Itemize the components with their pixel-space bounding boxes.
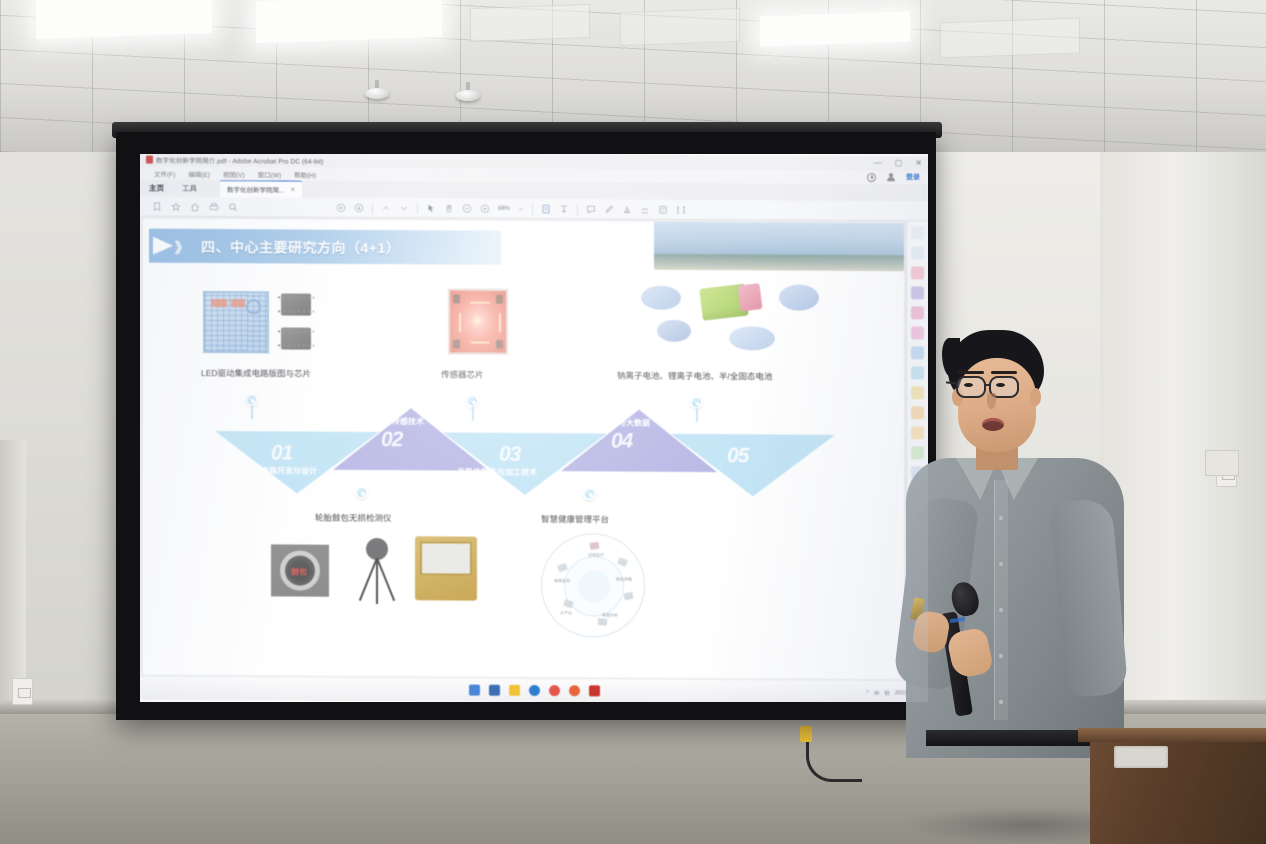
ceiling-light — [36, 0, 212, 39]
rotate-icon[interactable] — [559, 204, 569, 214]
tripod-scanner-image — [353, 538, 401, 604]
direction-label-01: 集成电子电路开发与设计 — [229, 465, 317, 477]
eyeglasses-lens-left — [956, 376, 986, 398]
toolbar-separator — [417, 203, 418, 214]
smoke-detector-icon — [456, 90, 480, 101]
direction-label-02: 光电检测与传感技术 — [352, 416, 424, 427]
tire-bulge-image: 鼓包 — [271, 544, 329, 596]
export-pdf-icon[interactable] — [911, 266, 924, 279]
menu-view[interactable]: 视图(V) — [223, 169, 245, 179]
form-icon[interactable] — [658, 205, 668, 215]
lock-icon[interactable] — [887, 173, 895, 182]
menu-edit[interactable]: 编辑(E) — [188, 168, 210, 178]
acrobat-icon[interactable] — [589, 685, 600, 696]
toolbar-separator — [532, 203, 533, 214]
sign-in-button[interactable]: 登录 — [906, 172, 920, 182]
share-icon[interactable] — [676, 205, 686, 215]
ceiling-panel — [940, 18, 1080, 59]
power-cable — [806, 738, 862, 782]
folder-icon[interactable] — [509, 685, 520, 696]
document-tab-label: 数字化创新学院简... — [227, 184, 284, 194]
smoke-detector-icon — [365, 88, 389, 99]
direction-number-03: 03 — [499, 443, 520, 467]
titlebar-right-actions[interactable]: 登录 — [867, 172, 920, 182]
projection-screen: 数字化创新学院简介.pdf - Adobe Acrobat Pro DC (64… — [116, 132, 936, 720]
start-icon[interactable] — [469, 685, 480, 696]
download-icon[interactable] — [354, 203, 364, 213]
edit-pdf-icon[interactable] — [911, 306, 924, 319]
shirt-button — [999, 700, 1003, 704]
pin-stem — [251, 405, 253, 419]
help-circle-icon[interactable] — [867, 173, 876, 182]
chrome-icon[interactable] — [549, 685, 560, 696]
marker-pin-02 — [355, 486, 368, 499]
acrobat-window[interactable]: 数字化创新学院简介.pdf - Adobe Acrobat Pro DC (64… — [140, 154, 928, 702]
menu-help[interactable]: 帮助(H) — [294, 169, 316, 179]
eye-right — [996, 383, 1005, 387]
caption-health-platform: 智慧健康管理平台 — [541, 513, 609, 525]
toolbar-separator — [372, 203, 373, 214]
menu-window[interactable]: 窗口(W) — [258, 169, 281, 179]
close-button[interactable]: ✕ — [915, 158, 922, 168]
search-icon[interactable] — [911, 246, 924, 259]
eyebrow-right — [991, 371, 1017, 374]
caption-battery: 钠离子电池、锂离子电池、半/全固态电池 — [617, 370, 772, 383]
zoom-level-value[interactable]: 68% — [498, 206, 510, 212]
marker-pin-04 — [583, 487, 596, 500]
direction-number-05: 05 — [727, 444, 748, 468]
explorer-icon[interactable] — [489, 685, 500, 696]
chip-circle-feature — [246, 299, 261, 314]
edge-icon[interactable] — [529, 685, 540, 696]
jeans — [926, 734, 1116, 844]
page-down-icon[interactable] — [399, 203, 409, 213]
close-icon[interactable]: ✕ — [290, 186, 295, 193]
eyeglasses-bridge — [986, 384, 991, 386]
battery-applications-image — [641, 282, 821, 357]
star-icon[interactable] — [171, 201, 181, 211]
sensor-chip-image: ✳ — [448, 288, 508, 354]
ic-package-image — [281, 293, 311, 315]
ic-package-image — [281, 327, 311, 349]
tab-tools[interactable]: 工具 — [173, 183, 206, 194]
window-title: 数字化创新学院简介.pdf - Adobe Acrobat Pro DC (64… — [140, 154, 323, 165]
direction-triangle-03 — [443, 432, 607, 495]
health-label-4: 云平台 — [560, 610, 572, 616]
nose — [987, 393, 996, 409]
caption-tire-detector: 轮胎鼓包无损检测仪 — [315, 512, 392, 524]
caption-led-chip: LED驱动集成电路版图与芯片 — [201, 367, 311, 380]
screen-surface: 数字化创新学院简介.pdf - Adobe Acrobat Pro DC (64… — [140, 154, 928, 702]
print-icon[interactable] — [209, 202, 219, 212]
ceiling-panel — [470, 4, 590, 42]
direction-triangle-05 — [671, 434, 835, 497]
wall-panel — [1205, 450, 1239, 476]
slide-header-photo — [654, 222, 904, 272]
toolbar-separator — [577, 204, 578, 215]
ceiling-light — [760, 11, 910, 46]
hand-tool-icon[interactable] — [444, 203, 454, 213]
toolbar-tools-group[interactable]: 68% — [336, 198, 686, 220]
smoke-detector-stem — [375, 80, 379, 88]
maximize-button[interactable]: ▢ — [895, 158, 903, 168]
wall-outlet — [12, 678, 33, 705]
bookmark-icon[interactable] — [152, 201, 162, 211]
ear-right — [1030, 388, 1041, 406]
minimize-button[interactable]: — — [874, 158, 882, 168]
slide-title-band: 》 四、中心主要研究方向（4+1） — [149, 229, 501, 265]
select-tool-icon[interactable] — [426, 203, 436, 213]
shirt-button — [999, 516, 1003, 520]
home-icon[interactable] — [190, 201, 200, 211]
eye-left — [964, 383, 973, 387]
save-icon[interactable] — [336, 203, 346, 213]
chevron-down-icon[interactable] — [518, 204, 524, 214]
page-up-icon[interactable] — [381, 203, 391, 213]
health-label-0: 健康监测 — [554, 578, 570, 584]
ime-indicator[interactable]: 中 — [874, 689, 880, 697]
page-fit-icon[interactable] — [541, 204, 551, 214]
zoom-out-icon[interactable] — [462, 204, 472, 214]
health-label-2: 智能穿戴 — [616, 577, 632, 583]
direction-number-04: 04 — [611, 429, 632, 453]
acrobat-app-icon — [146, 156, 153, 164]
direction-triangle-01 — [215, 431, 379, 494]
led-chip-layout-image — [203, 291, 269, 353]
slide-content: 》 四、中心主要研究方向（4+1） ✳ — [143, 219, 904, 680]
direction-label-04: 人工智能与大数据 — [586, 417, 650, 428]
direction-label-03: 半导体器件与加工技术 — [457, 467, 537, 478]
toolbar-left-group[interactable] — [140, 201, 238, 212]
shirt-button — [999, 608, 1003, 612]
ceiling-light — [256, 0, 442, 43]
pdf-page-area[interactable]: 》 四、中心主要研究方向（4+1） ✳ — [140, 217, 928, 682]
direction-number-02: 02 — [381, 428, 402, 452]
comment-icon[interactable] — [586, 204, 596, 214]
create-pdf-icon[interactable] — [911, 286, 924, 299]
highlight-icon[interactable] — [604, 204, 614, 214]
chevron-up-icon[interactable]: ^ — [866, 690, 869, 696]
chevron-right-icon: 》 — [175, 238, 186, 258]
document-tab[interactable]: 数字化创新学院简... ✕ — [220, 180, 302, 198]
slide-heading: 四、中心主要研究方向（4+1） — [201, 237, 400, 258]
tab-home[interactable]: 主页 — [140, 183, 173, 194]
health-label-3: 数据分析 — [602, 612, 618, 618]
instrument-case-image — [415, 536, 477, 600]
caption-sensor-chip: 传感器芯片 — [441, 368, 484, 380]
account-icon[interactable] — [911, 226, 924, 239]
podium-control-panel — [1114, 746, 1168, 768]
windows-taskbar[interactable]: ^ 中 铃 2021/11/08 — [140, 677, 928, 702]
health-label-1: 远程医疗 — [588, 552, 604, 558]
app-icon[interactable] — [569, 685, 580, 696]
search-icon[interactable] — [228, 202, 238, 212]
mouth — [982, 418, 1004, 431]
eyebrow-left — [958, 371, 984, 374]
zoom-in-icon[interactable] — [480, 204, 490, 214]
menu-file[interactable]: 文件(F) — [154, 168, 175, 178]
cable-plug — [800, 726, 812, 742]
sign-icon[interactable] — [640, 205, 650, 215]
shirt-button — [999, 562, 1003, 566]
smoke-detector-stem — [466, 82, 470, 90]
shirt-button — [999, 654, 1003, 658]
podium-top — [1078, 728, 1266, 742]
direction-number-01: 01 — [271, 441, 292, 465]
health-platform-diagram: 健康监测 远程医疗 智能穿戴 数据分析 云平台 — [541, 533, 645, 638]
conference-room-scene: 数字化创新学院简介.pdf - Adobe Acrobat Pro DC (64… — [0, 0, 1266, 844]
ceiling-panel — [620, 8, 740, 46]
window-controls[interactable]: — ▢ ✕ — [874, 158, 922, 168]
stamp-icon[interactable] — [622, 205, 632, 215]
arrow-icon — [153, 237, 173, 255]
